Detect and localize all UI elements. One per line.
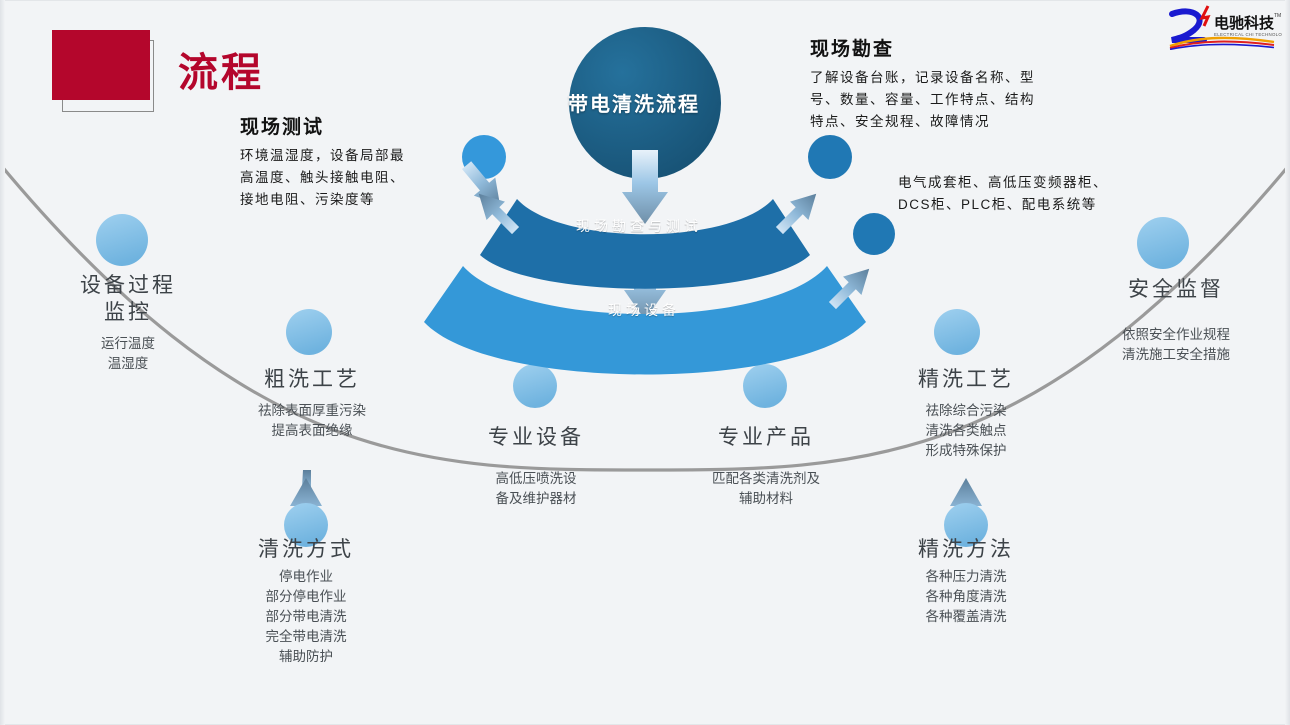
node-fine-cleaning-method-title: 精洗方法: [876, 536, 1056, 563]
page-title: 流程: [178, 40, 264, 98]
node-fine-wash-line-1: 祛除综合污染: [880, 401, 1052, 421]
node-professional-equipment-body: 高低压喷洗设 备及维护器材: [450, 469, 622, 509]
company-logo: 电驰科技 ELECTRICAL CHI TECHNOLOGY TM: [1164, 2, 1282, 50]
block-site-test: 现场测试 环境温湿度，设备局部最 高温度、触头接触电阻、 接地电阻、污染度等: [240, 112, 405, 211]
node-fine-cleaning-method-body: 各种压力清洗 各种角度清洗 各种覆盖清洗: [876, 567, 1056, 627]
node-fine-wash: 精洗工艺 祛除综合污染 清洗各类触点 形成特殊保护: [880, 366, 1052, 461]
node-cleaning-method-line-2: 部分停电作业: [216, 587, 396, 607]
node-professional-equipment-line-1: 高低压喷洗设: [450, 469, 622, 489]
node-fine-wash-line-3: 形成特殊保护: [880, 441, 1052, 461]
node-cleaning-method-line-1: 停电作业: [216, 567, 396, 587]
node-cleaning-method-line-4: 完全带电清洗: [216, 627, 396, 647]
block-site-test-title: 现场测试: [240, 112, 405, 139]
node-equipment-monitoring-line-2: 温湿度: [48, 354, 208, 374]
node-rough-wash-body: 祛除表面厚重污染 提高表面绝缘: [222, 401, 402, 441]
node-professional-product: 专业产品 匹配各类清洗剂及 辅助材料: [680, 424, 852, 509]
node-fine-cleaning-method-line-3: 各种覆盖清洗: [876, 607, 1056, 627]
node-equipment-monitoring: 设备过程 监控 运行温度 温湿度: [48, 272, 208, 374]
block-site-test-line-3: 接地电阻、污染度等: [240, 189, 405, 211]
node-fine-cleaning-method: 精洗方法 各种压力清洗 各种角度清洗 各种覆盖清洗: [876, 536, 1056, 627]
header-red-block: [52, 30, 150, 100]
arc-circle-2: [286, 309, 332, 355]
svg-text:TM: TM: [1274, 13, 1281, 19]
block-site-survey: 现场勘查 了解设备台账，记录设备名称、型 号、数量、容量、工作特点、结构 特点、…: [810, 34, 1035, 133]
side-note-line-1: 电气成套柜、高低压变频器柜、: [898, 172, 1108, 194]
block-site-survey-title: 现场勘查: [810, 34, 1035, 61]
node-cleaning-method-line-3: 部分带电清洗: [216, 607, 396, 627]
node-fine-wash-line-2: 清洗各类触点: [880, 421, 1052, 441]
node-equipment-monitoring-title-1: 设备过程: [48, 272, 208, 299]
banner-label-survey-test: 现场勘查与测试: [576, 216, 702, 236]
arc-circle-3: [513, 364, 557, 408]
node-cleaning-method-line-5: 辅助防护: [216, 647, 396, 667]
svg-text:电驰科技: 电驰科技: [1214, 14, 1275, 32]
node-equipment-monitoring-line-1: 运行温度: [48, 334, 208, 354]
node-rough-wash-line-1: 祛除表面厚重污染: [222, 401, 402, 421]
node-professional-equipment-title: 专业设备: [450, 424, 622, 451]
logo-mark-icon: 电驰科技 ELECTRICAL CHI TECHNOLOGY TM: [1164, 2, 1282, 50]
node-equipment-monitoring-body: 运行温度 温湿度: [48, 334, 208, 374]
node-safety-supervision-line-1: 依照安全作业规程: [1086, 325, 1266, 345]
node-rough-wash-title: 粗洗工艺: [222, 366, 402, 393]
side-note-line-2: DCS柜、PLC柜、配电系统等: [898, 194, 1108, 216]
node-safety-supervision-line-2: 清洗施工安全措施: [1086, 345, 1266, 365]
infographic-canvas: 流程 电驰科技 ELECTRICAL CHI TECHNOLOGY TM 带电清…: [0, 0, 1290, 725]
svg-text:ELECTRICAL CHI TECHNOLOGY: ELECTRICAL CHI TECHNOLOGY: [1214, 32, 1282, 37]
block-site-test-body: 环境温湿度，设备局部最 高温度、触头接触电阻、 接地电阻、污染度等: [240, 145, 405, 211]
block-site-test-line-1: 环境温湿度，设备局部最: [240, 145, 405, 167]
node-cleaning-method-body: 停电作业 部分停电作业 部分带电清洗 完全带电清洗 辅助防护: [216, 567, 396, 667]
block-site-test-line-2: 高温度、触头接触电阻、: [240, 167, 405, 189]
block-site-survey-line-2: 号、数量、容量、工作特点、结构: [810, 89, 1035, 111]
node-professional-equipment: 专业设备 高低压喷洗设 备及维护器材: [450, 424, 622, 509]
node-rough-wash-line-2: 提高表面绝缘: [222, 421, 402, 441]
node-safety-supervision: 安全监督 依照安全作业规程 清洗施工安全措施: [1086, 276, 1266, 365]
node-equipment-monitoring-title-2: 监控: [48, 299, 208, 326]
banner-label-site-equipment: 现场设备: [608, 300, 680, 320]
node-professional-equipment-line-2: 备及维护器材: [450, 489, 622, 509]
node-professional-product-title: 专业产品: [680, 424, 852, 451]
center-circle-right-bottom: [853, 213, 895, 255]
node-professional-product-body: 匹配各类清洗剂及 辅助材料: [680, 469, 852, 509]
node-fine-wash-body: 祛除综合污染 清洗各类触点 形成特殊保护: [880, 401, 1052, 461]
node-cleaning-method: 清洗方式 停电作业 部分停电作业 部分带电清洗 完全带电清洗 辅助防护: [216, 536, 396, 667]
block-site-survey-line-1: 了解设备台账，记录设备名称、型: [810, 67, 1035, 89]
side-note-cabinets: 电气成套柜、高低压变频器柜、 DCS柜、PLC柜、配电系统等: [898, 172, 1108, 216]
node-fine-cleaning-method-line-2: 各种角度清洗: [876, 587, 1056, 607]
arc-circle-1: [96, 214, 148, 266]
core-circle-label: 带电清洗流程: [568, 88, 700, 117]
node-professional-product-line-2: 辅助材料: [680, 489, 852, 509]
arc-circle-6: [1137, 217, 1189, 269]
node-rough-wash: 粗洗工艺 祛除表面厚重污染 提高表面绝缘: [222, 366, 402, 441]
node-cleaning-method-title: 清洗方式: [216, 536, 396, 563]
block-site-survey-body: 了解设备台账，记录设备名称、型 号、数量、容量、工作特点、结构 特点、安全规程、…: [810, 67, 1035, 133]
node-fine-wash-title: 精洗工艺: [880, 366, 1052, 393]
arc-circle-5: [934, 309, 980, 355]
node-fine-cleaning-method-line-1: 各种压力清洗: [876, 567, 1056, 587]
node-safety-supervision-body: 依照安全作业规程 清洗施工安全措施: [1086, 325, 1266, 365]
center-circle-right-top: [808, 135, 852, 179]
block-site-survey-line-3: 特点、安全规程、故障情况: [810, 111, 1035, 133]
node-safety-supervision-title: 安全监督: [1086, 276, 1266, 303]
arc-circle-4: [743, 364, 787, 408]
node-professional-product-line-1: 匹配各类清洗剂及: [680, 469, 852, 489]
